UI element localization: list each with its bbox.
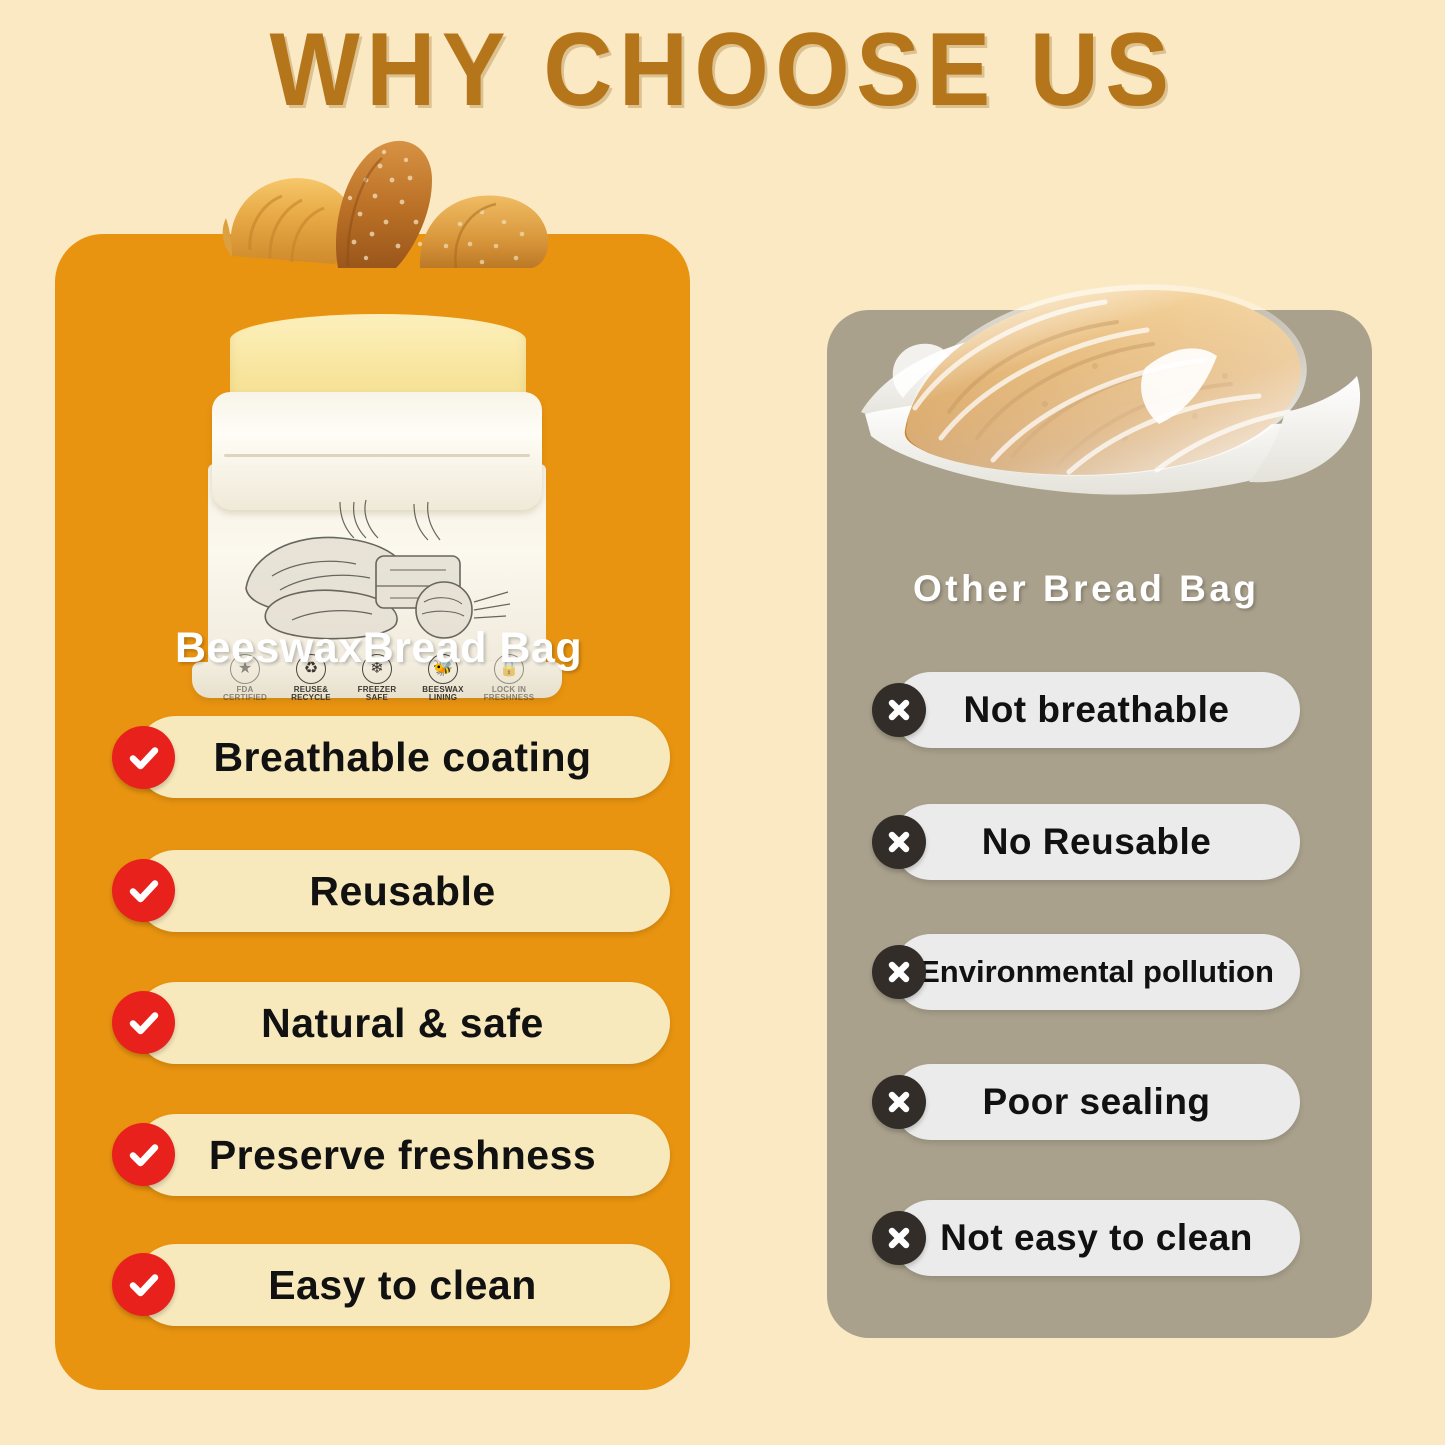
drawback-label: Not easy to clean bbox=[940, 1217, 1253, 1259]
loaf-in-plastic-bag-illustration bbox=[845, 216, 1375, 526]
check-icon bbox=[112, 1253, 175, 1316]
check-icon bbox=[112, 859, 175, 922]
other-bread-bag-heading: Other Bread Bag bbox=[913, 568, 1260, 610]
plastic-bread-bag-image bbox=[845, 216, 1375, 526]
feature-label: Preserve freshness bbox=[209, 1132, 596, 1179]
drawback-pill-poor-sealing[interactable]: Poor sealing bbox=[893, 1064, 1300, 1140]
check-icon bbox=[112, 726, 175, 789]
feature-pill-breathable-coating[interactable]: Breathable coating bbox=[135, 716, 670, 798]
feature-label: Easy to clean bbox=[268, 1262, 537, 1309]
drawback-label: No Reusable bbox=[982, 821, 1212, 863]
drawback-pill-not-easy-to-clean[interactable]: Not easy to clean bbox=[893, 1200, 1300, 1276]
feature-label: Reusable bbox=[309, 868, 495, 915]
check-icon bbox=[112, 1123, 175, 1186]
beeswax-bread-bag-image: ★ FDA CERTIFIED ♻ REUSE& RECYCLE ❄ FREEZ… bbox=[170, 118, 590, 618]
printed-bread-artwork-icon bbox=[236, 492, 518, 642]
x-icon bbox=[872, 1075, 926, 1129]
feature-label: Natural & safe bbox=[261, 1000, 544, 1047]
drawback-label: Poor sealing bbox=[982, 1081, 1210, 1123]
x-icon bbox=[872, 683, 926, 737]
x-icon bbox=[872, 815, 926, 869]
bread-loaves-illustration bbox=[170, 118, 590, 268]
feature-label: Breathable coating bbox=[213, 734, 591, 781]
beeswax-bag-heading: BeeswaxBread Bag bbox=[175, 624, 582, 673]
x-icon bbox=[872, 1211, 926, 1265]
drawback-pill-no-reusable[interactable]: No Reusable bbox=[893, 804, 1300, 880]
feature-pill-easy-to-clean[interactable]: Easy to clean bbox=[135, 1244, 670, 1326]
feature-pill-natural-safe[interactable]: Natural & safe bbox=[135, 982, 670, 1064]
drawback-pill-not-breathable[interactable]: Not breathable bbox=[893, 672, 1300, 748]
drawback-pill-environmental-pollution[interactable]: Environmental pollution bbox=[893, 934, 1300, 1010]
drawback-label: Not breathable bbox=[963, 689, 1229, 731]
x-icon bbox=[872, 945, 926, 999]
check-icon bbox=[112, 991, 175, 1054]
feature-pill-reusable[interactable]: Reusable bbox=[135, 850, 670, 932]
drawback-label: Environmental pollution bbox=[919, 954, 1274, 990]
page-title: WHY CHOOSE US bbox=[58, 16, 1387, 125]
feature-pill-preserve-freshness[interactable]: Preserve freshness bbox=[135, 1114, 670, 1196]
